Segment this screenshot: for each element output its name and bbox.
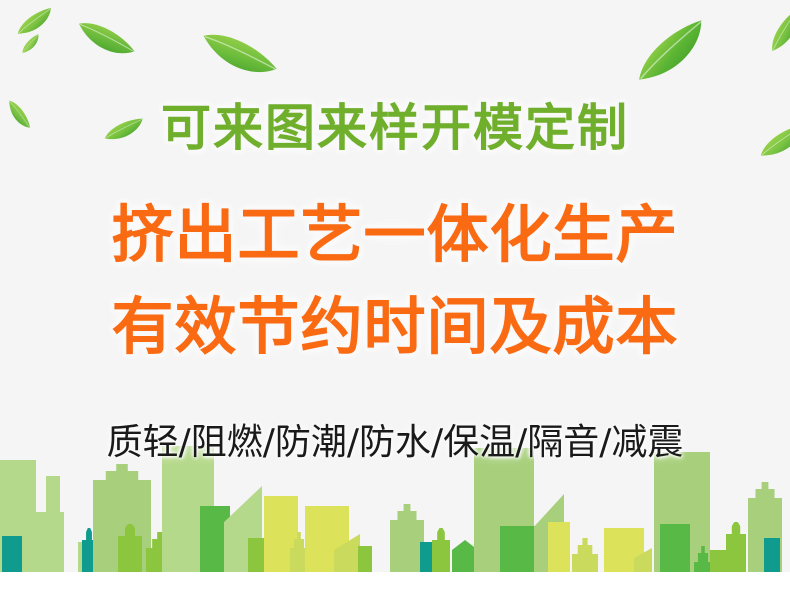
skyline-building [2, 536, 22, 572]
building-shape [660, 524, 690, 572]
headline-orange-line-1: 挤出工艺一体化生产 [0, 196, 790, 274]
headline-green: 可来图来样开模定制 [0, 96, 790, 160]
skyline-building [764, 538, 780, 572]
building-shape [548, 522, 570, 572]
headline-block: 可来图来样开模定制 挤出工艺一体化生产 有效节约时间及成本 质轻/阻燃/防潮/防… [0, 0, 790, 500]
building-shape [432, 528, 450, 572]
building-shape [726, 522, 746, 572]
building-shape [358, 546, 372, 572]
headline-orange-line-2: 有效节约时间及成本 [0, 288, 790, 366]
building-shape [764, 538, 780, 572]
skyline-building [572, 538, 598, 572]
skyline-building [548, 522, 570, 572]
skyline-building [660, 524, 690, 572]
skyline-building [726, 522, 746, 572]
skyline-building [710, 550, 726, 572]
skyline-building [390, 504, 424, 572]
building-shape [2, 536, 22, 572]
building-shape [390, 504, 424, 572]
feature-list: 质轻/阻燃/防潮/防水/保温/隔音/减震 [0, 420, 790, 466]
skyline-building [358, 546, 372, 572]
building-shape [710, 550, 726, 572]
promo-banner: 可来图来样开模定制 挤出工艺一体化生产 有效节约时间及成本 质轻/阻燃/防潮/防… [0, 0, 790, 600]
skyline-building [432, 528, 450, 572]
bottom-white-strip [0, 572, 790, 600]
building-shape [572, 538, 598, 572]
